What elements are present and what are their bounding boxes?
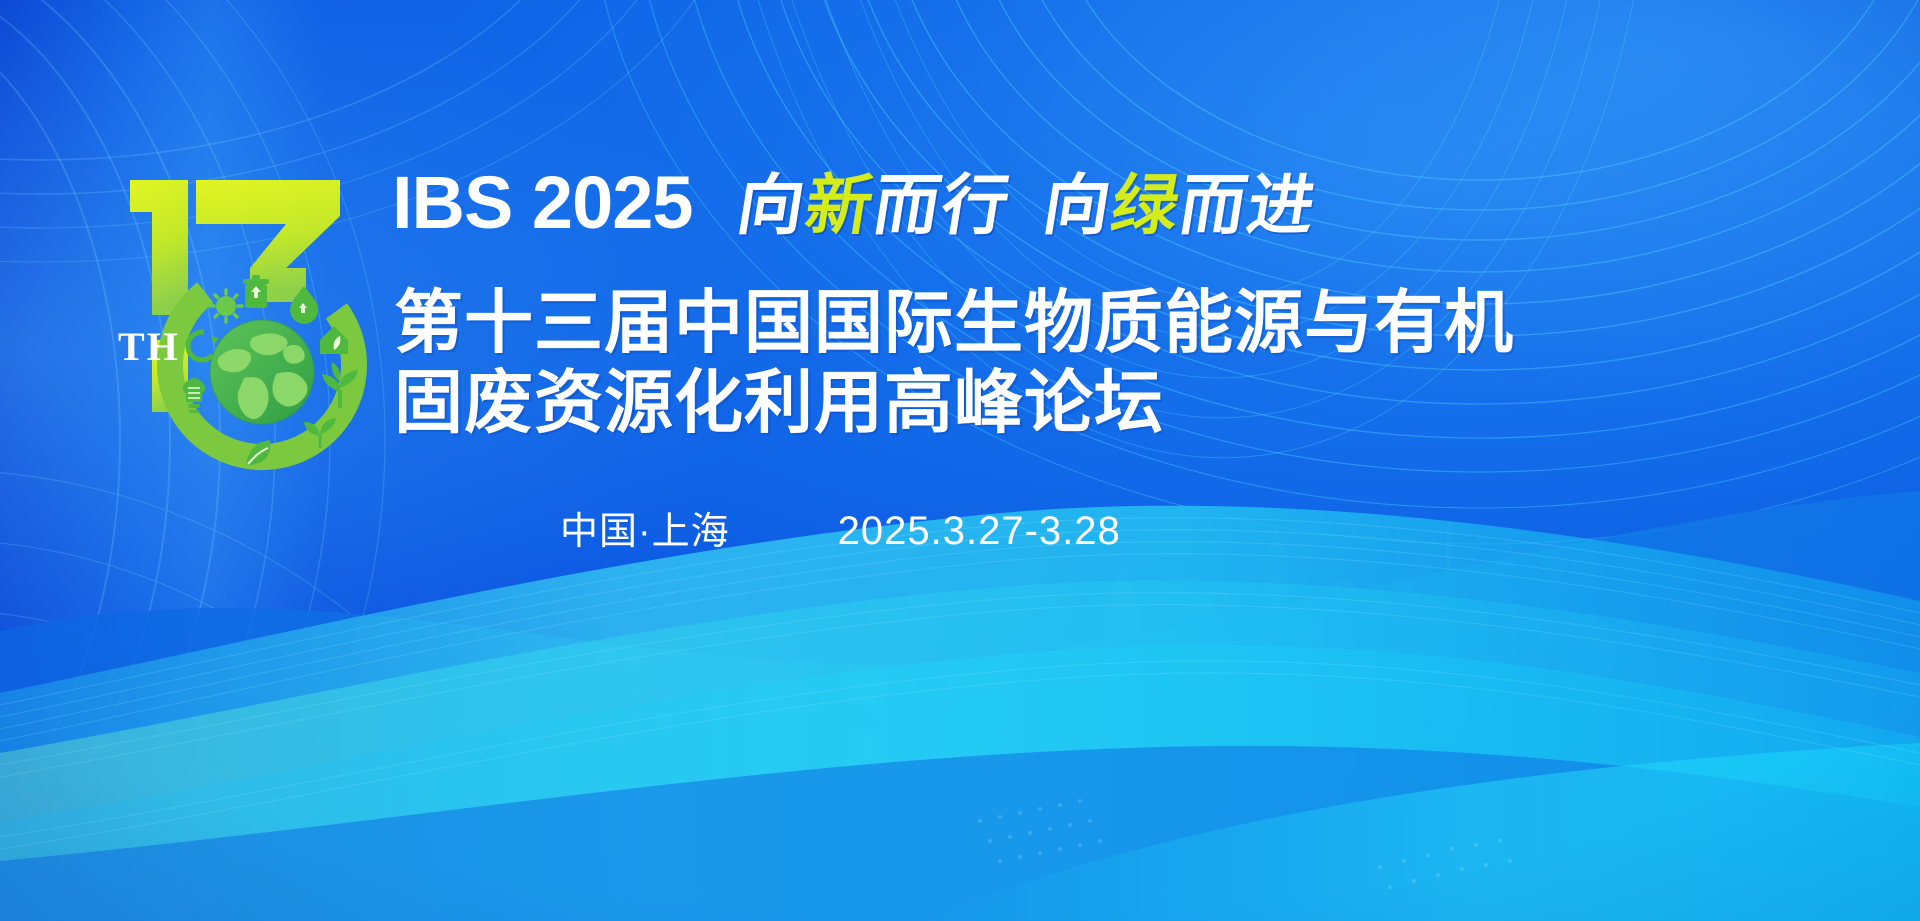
slogan-part2-prefix: 向	[1039, 172, 1117, 238]
conference-title-line2: 固废资源化利用高峰论坛	[394, 363, 1514, 443]
recycle-bin-icon	[243, 275, 269, 308]
slogan-part2-highlight: 绿	[1107, 172, 1185, 238]
slogan-part2-suffix: 而进	[1175, 172, 1321, 238]
conference-title: 第十三届中国国际生物质能源与有机 固废资源化利用高峰论坛	[394, 283, 1514, 443]
event-code: IBS 2025	[392, 166, 693, 240]
headline-row: IBS 2025 向新而行向绿而进	[392, 166, 1311, 240]
event-slogan: 向新而行向绿而进	[733, 172, 1321, 238]
slogan-part1-suffix: 而行	[869, 172, 1015, 238]
conference-banner: TH	[0, 0, 1920, 921]
event-meta: 中国·上海 2025.3.27-3.28	[560, 500, 1121, 555]
svg-text:TH: TH	[118, 324, 180, 369]
anniversary-logo: TH	[90, 150, 380, 470]
slogan-part1-prefix: 向	[733, 172, 811, 238]
conference-title-line1: 第十三届中国国际生物质能源与有机	[394, 283, 1514, 363]
slogan-part1-highlight: 新	[801, 172, 879, 238]
event-location: 中国·上海	[560, 500, 730, 555]
sun-icon	[210, 290, 242, 322]
event-date: 2025.3.27-3.28	[838, 509, 1121, 554]
